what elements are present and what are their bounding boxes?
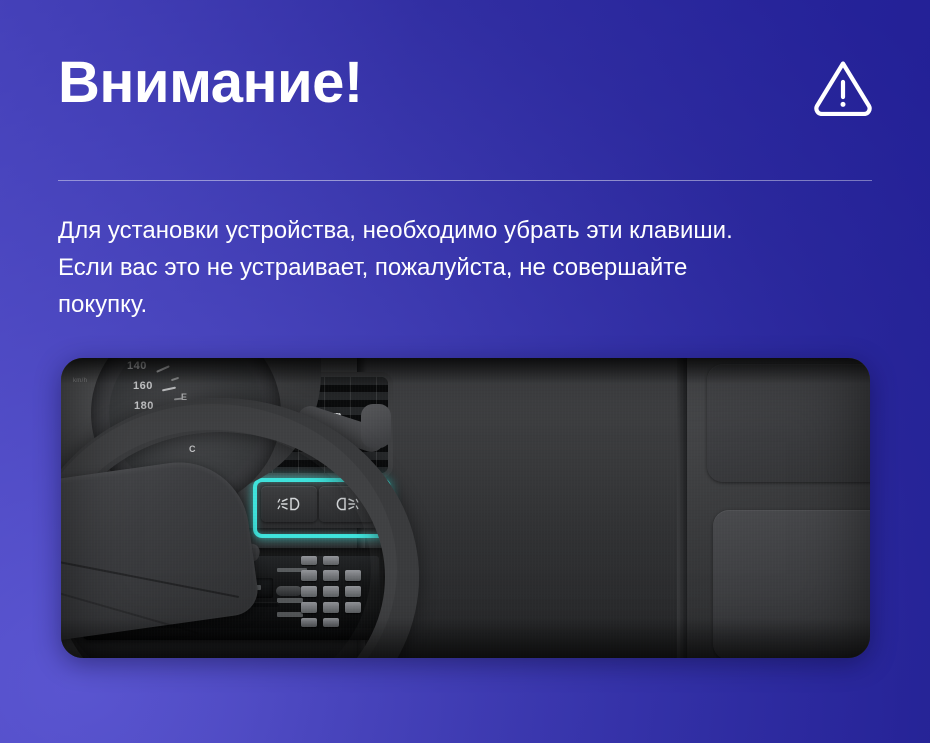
car-dashboard-photo: 140 160 180 200 km/h E C: [61, 358, 870, 658]
warning-line-3: покупку.: [58, 286, 878, 323]
warning-line-2: Если вас это не устраивает, пожалуйста, …: [58, 249, 878, 286]
photo-vignette: [61, 358, 870, 658]
warning-text: Для установки устройства, необходимо убр…: [58, 212, 878, 323]
warning-triangle-icon: [812, 58, 874, 116]
header-divider: [58, 180, 872, 181]
warning-banner-page: Внимание! Для установки устройства, необ…: [0, 0, 930, 743]
warning-line-1: Для установки устройства, необходимо убр…: [58, 212, 878, 249]
page-title: Внимание!: [58, 52, 363, 114]
header: Внимание!: [58, 52, 874, 142]
